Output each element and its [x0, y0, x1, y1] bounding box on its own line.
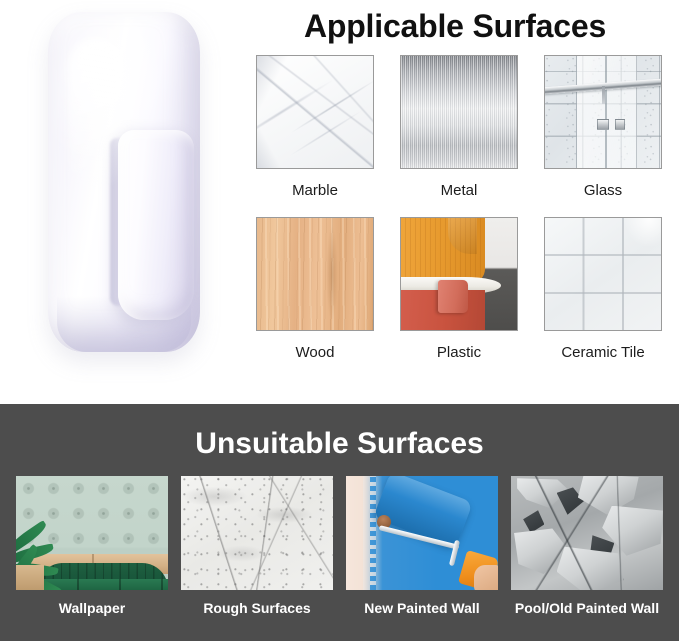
plastic-thumbnail: [400, 217, 518, 331]
surface-cell-glass: Glass: [538, 55, 668, 217]
hook-arm: [118, 130, 194, 320]
unsuitable-cell-pool-old-painted-wall: Pool/Old Painted Wall: [511, 476, 663, 617]
unsuitable-cell-wallpaper: Wallpaper: [16, 476, 168, 617]
product-image: [0, 0, 250, 404]
surface-label: Marble: [292, 182, 338, 200]
surface-label: Plastic: [437, 344, 481, 362]
door-handle-right: [615, 119, 625, 130]
glass-thumbnail: [544, 55, 662, 169]
applicable-surfaces-grid: Marble Metal: [250, 55, 662, 379]
unsuitable-surfaces-grid: Wallpaper Rough Surfaces: [16, 476, 664, 617]
wood-thumbnail: [256, 217, 374, 331]
wallpaper-room-icon: [16, 476, 168, 590]
unsuitable-label: New Painted Wall: [364, 600, 479, 617]
marble-texture-icon: [257, 56, 373, 168]
wood-grain-texture-icon: [257, 218, 373, 330]
ceramic-tile-texture-icon: [545, 218, 661, 330]
hand: [474, 565, 498, 590]
shower-glass-door-icon: [545, 56, 661, 168]
unsuitable-label: Wallpaper: [59, 600, 125, 617]
applicable-surfaces-title: Applicable Surfaces: [250, 6, 660, 46]
unsuitable-surfaces-title: Unsuitable Surfaces: [0, 426, 679, 462]
rough-stucco-texture-icon: [181, 476, 333, 590]
bin-clip: [438, 280, 468, 314]
paint-cracks: [511, 476, 663, 590]
surface-cell-plastic: Plastic: [394, 217, 524, 379]
peeling-paint-texture-icon: [511, 476, 663, 590]
unsuitable-cell-rough-surfaces: Rough Surfaces: [181, 476, 333, 617]
unsuitable-label: Pool/Old Painted Wall: [515, 600, 659, 617]
hook-highlight: [68, 38, 126, 188]
surface-cell-wood: Wood: [250, 217, 380, 379]
applicable-surfaces-section: Applicable Surfaces Marble Metal: [0, 0, 679, 404]
surfaces-infographic: Applicable Surfaces Marble Metal: [0, 0, 679, 641]
paint-roller-icon: [346, 476, 498, 590]
orange-bin: [400, 217, 485, 283]
glass-door-panel: [576, 56, 636, 168]
metal-thumbnail: [400, 55, 518, 169]
door-handle-left: [597, 119, 609, 130]
peeling-paint-thumbnail: [511, 476, 663, 590]
surface-label: Glass: [584, 182, 622, 200]
adhesive-wall-hook-icon: [48, 12, 200, 352]
surface-cell-ceramic-tile: Ceramic Tile: [538, 217, 668, 379]
brushed-metal-texture-icon: [401, 56, 517, 168]
rough-surface-thumbnail: [181, 476, 333, 590]
plant-pot: [16, 565, 44, 590]
unsuitable-cell-new-painted-wall: New Painted Wall: [346, 476, 498, 617]
paint-edge: [363, 476, 377, 590]
surface-cell-marble: Marble: [250, 55, 380, 217]
unsuitable-surfaces-section: Unsuitable Surfaces: [0, 404, 679, 641]
wallpaper-thumbnail: [16, 476, 168, 590]
ceramic-tile-thumbnail: [544, 217, 662, 331]
surface-label: Wood: [296, 344, 335, 362]
plastic-bin-icon: [401, 218, 517, 330]
rail-drop: [602, 86, 605, 104]
unsuitable-label: Rough Surfaces: [203, 600, 310, 617]
marble-thumbnail: [256, 55, 374, 169]
new-painted-wall-thumbnail: [346, 476, 498, 590]
surface-label: Ceramic Tile: [561, 344, 644, 362]
surface-label: Metal: [441, 182, 478, 200]
surface-cell-metal: Metal: [394, 55, 524, 217]
plant-icon: [16, 526, 62, 585]
